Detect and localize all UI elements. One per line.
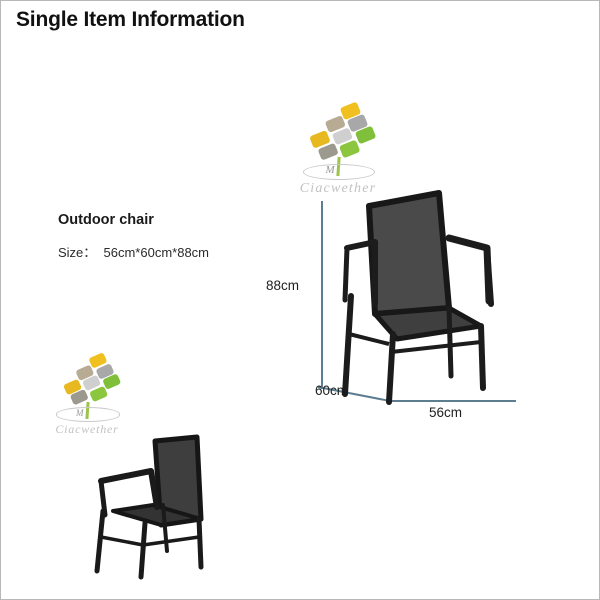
- watermark-canopy-icon: [302, 100, 378, 173]
- product-information-page: Single Item Information Outdoor chair Si…: [0, 0, 600, 600]
- dimension-line-height: [321, 201, 323, 389]
- outdoor-chair-icon: [79, 419, 229, 584]
- product-image-secondary: [79, 419, 229, 584]
- dimension-label-width: 56cm: [429, 405, 462, 420]
- page-title: Single Item Information: [16, 7, 276, 33]
- watermark-monogram: M: [326, 164, 335, 176]
- outdoor-chair-icon: [331, 176, 531, 406]
- product-image-main: [331, 176, 531, 406]
- watermark-monogram: M: [76, 408, 84, 418]
- dimension-label-height: 88cm: [266, 278, 299, 293]
- product-name: Outdoor chair: [58, 212, 154, 228]
- watermark-canopy-icon: [56, 350, 124, 416]
- product-size: Size： 56cm*60cm*88cm: [58, 242, 209, 261]
